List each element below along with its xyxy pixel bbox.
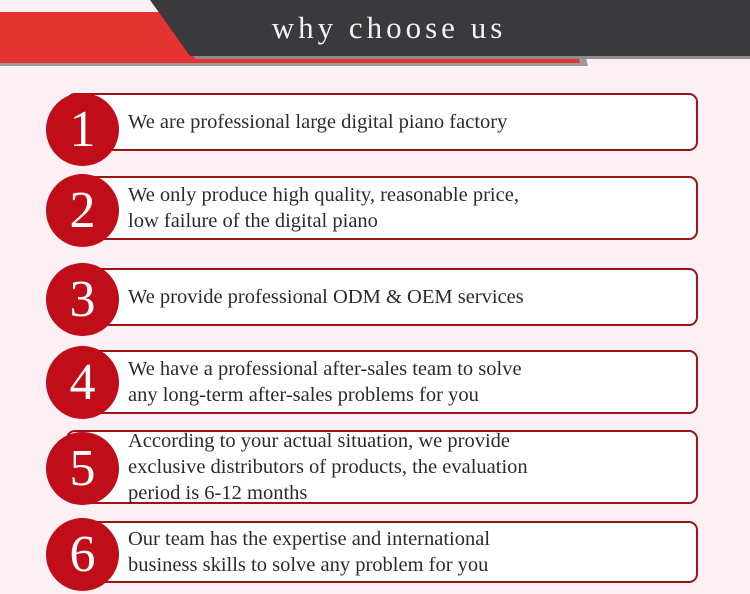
reason-line: We are professional large digital piano … xyxy=(128,109,686,135)
reason-line: period is 6-12 months xyxy=(128,480,686,506)
reason-number-badge: 4 xyxy=(46,346,119,419)
list-item: We have a professional after-sales team … xyxy=(0,350,750,420)
reason-line: business skills to solve any problem for… xyxy=(128,552,686,578)
reason-text: We only produce high quality, reasonable… xyxy=(128,178,686,238)
reason-box: We have a professional after-sales team … xyxy=(66,350,698,414)
reason-number-badge: 6 xyxy=(46,518,119,591)
reason-line: We only produce high quality, reasonable… xyxy=(128,182,686,208)
list-item: We are professional large digital piano … xyxy=(0,93,750,159)
reason-line: According to your actual situation, we p… xyxy=(128,428,686,454)
why-choose-us-infographic: why choose us We are professional large … xyxy=(0,0,750,594)
reason-line: We provide professional ODM & OEM servic… xyxy=(128,284,686,310)
reason-box: Our team has the expertise and internati… xyxy=(66,521,698,583)
reason-line: Our team has the expertise and internati… xyxy=(128,526,686,552)
reason-box: We are professional large digital piano … xyxy=(66,93,698,151)
reason-number-badge: 2 xyxy=(46,174,119,247)
reason-number-badge: 5 xyxy=(46,432,119,505)
reason-box: According to your actual situation, we p… xyxy=(66,430,698,504)
reason-number-badge: 3 xyxy=(46,263,119,336)
list-item: We provide professional ODM & OEM servic… xyxy=(0,268,750,334)
list-item: We only produce high quality, reasonable… xyxy=(0,176,750,246)
reason-line: exclusive distributors of products, the … xyxy=(128,454,686,480)
reason-box: We only produce high quality, reasonable… xyxy=(66,176,698,240)
list-item: According to your actual situation, we p… xyxy=(0,430,750,510)
reason-line: We have a professional after-sales team … xyxy=(128,356,686,382)
reason-text: We provide professional ODM & OEM servic… xyxy=(128,270,686,324)
reason-text: According to your actual situation, we p… xyxy=(128,432,686,502)
reason-line: any long-term after-sales problems for y… xyxy=(128,382,686,408)
reason-text: We are professional large digital piano … xyxy=(128,95,686,149)
reason-box: We provide professional ODM & OEM servic… xyxy=(66,268,698,326)
list-item: Our team has the expertise and internati… xyxy=(0,521,750,591)
reason-list: We are professional large digital piano … xyxy=(0,0,750,594)
reason-text: We have a professional after-sales team … xyxy=(128,352,686,412)
reason-line: low failure of the digital piano xyxy=(128,208,686,234)
reason-number-badge: 1 xyxy=(46,93,119,166)
reason-text: Our team has the expertise and internati… xyxy=(128,523,686,581)
